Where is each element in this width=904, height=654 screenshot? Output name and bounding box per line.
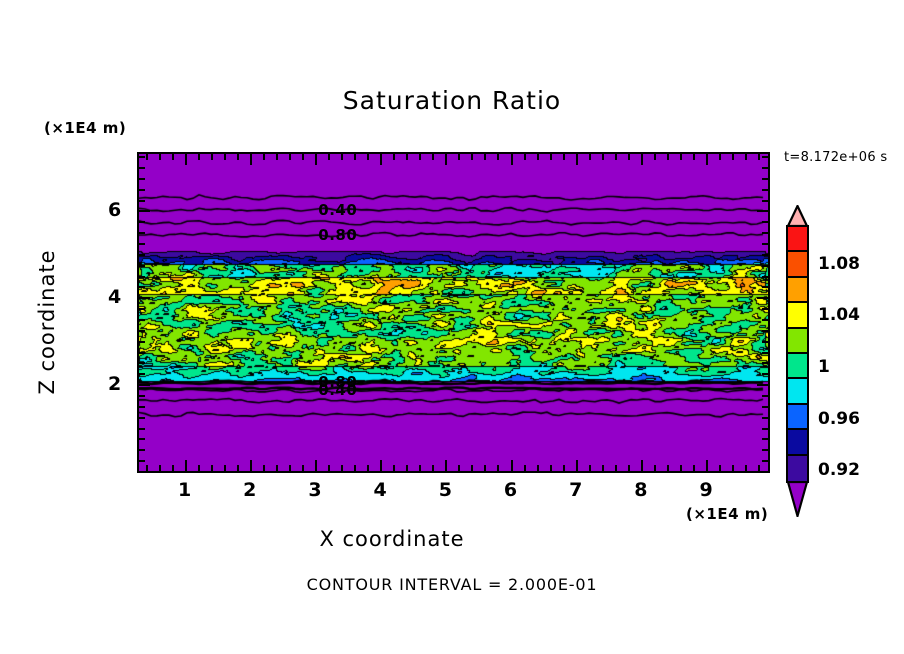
tick-mark (762, 265, 768, 267)
tick-mark (250, 460, 252, 471)
tick-mark (667, 465, 669, 471)
tick-mark (762, 417, 768, 419)
tick-mark (762, 395, 768, 397)
tick-mark (237, 154, 239, 160)
time-annotation: t=8.172e+06 s (784, 150, 887, 165)
tick-mark (732, 465, 734, 471)
colorbar-segment (788, 456, 807, 481)
tick-mark (185, 460, 187, 471)
colorbar-tick-label: 1.08 (818, 254, 860, 274)
tick-mark (139, 167, 145, 169)
y-tick-label: 2 (108, 373, 121, 395)
tick-mark (139, 232, 145, 234)
tick-mark (276, 154, 278, 160)
tick-mark (139, 460, 145, 462)
tick-mark (524, 465, 526, 471)
tick-mark (432, 154, 434, 160)
tick-mark (628, 154, 630, 160)
colorbar-segment (788, 430, 807, 455)
tick-mark (367, 465, 369, 471)
tick-mark (762, 428, 768, 430)
tick-mark (139, 406, 145, 408)
tick-mark (602, 154, 604, 160)
tick-mark (393, 154, 395, 160)
colorbar-segment (788, 303, 807, 328)
tick-mark (139, 341, 145, 343)
tick-mark (762, 200, 768, 202)
tick-mark (602, 465, 604, 471)
tick-mark (139, 254, 145, 256)
y-axis-title: Z coordinate (35, 212, 59, 432)
tick-mark (139, 210, 150, 212)
tick-mark (762, 406, 768, 408)
colorbar-segment (788, 278, 807, 303)
colorbar-tick-label: 1 (818, 357, 830, 377)
tick-mark (139, 156, 145, 158)
tick-mark (484, 465, 486, 471)
tick-mark (576, 460, 578, 471)
tick-mark (762, 352, 768, 354)
tick-mark (641, 460, 643, 471)
colorbar-under-arrow (786, 481, 809, 517)
tick-mark (762, 308, 768, 310)
x-axis-units: (×1E4 m) (686, 505, 768, 523)
colorbar-segment (788, 329, 807, 354)
x-tick-label: 6 (504, 479, 517, 501)
tick-mark (537, 465, 539, 471)
tick-mark (706, 154, 708, 165)
tick-mark (139, 428, 145, 430)
tick-mark (341, 154, 343, 160)
tick-mark (380, 460, 382, 471)
colorbar-segment (788, 227, 807, 252)
tick-mark (654, 154, 656, 160)
tick-mark (762, 460, 768, 462)
tick-mark (354, 154, 356, 160)
colorbar-segment (788, 405, 807, 430)
tick-mark (139, 395, 145, 397)
tick-mark (458, 154, 460, 160)
x-tick-label: 1 (178, 479, 191, 501)
tick-mark (762, 373, 768, 375)
tick-mark (263, 154, 265, 160)
colorbar-over-arrow (786, 205, 809, 227)
tick-mark (302, 465, 304, 471)
tick-mark (406, 465, 408, 471)
tick-mark (172, 465, 174, 471)
tick-mark (511, 154, 513, 165)
y-tick-label: 4 (108, 286, 121, 308)
tick-mark (139, 286, 145, 288)
tick-mark (328, 154, 330, 160)
tick-mark (563, 154, 565, 160)
tick-mark (758, 154, 760, 160)
tick-mark (757, 297, 768, 299)
tick-mark (757, 384, 768, 386)
colorbar-segment (788, 379, 807, 404)
colorbar-tick-label: 0.96 (818, 409, 860, 429)
tick-mark (380, 154, 382, 165)
tick-mark (471, 465, 473, 471)
y-axis-units: (×1E4 m) (44, 119, 126, 137)
tick-mark (706, 460, 708, 471)
x-tick-label: 5 (439, 479, 452, 501)
tick-mark (198, 465, 200, 471)
tick-mark (762, 362, 768, 364)
tick-mark (757, 210, 768, 212)
tick-mark (719, 465, 721, 471)
tick-mark (719, 154, 721, 160)
tick-mark (146, 465, 148, 471)
tick-mark (524, 154, 526, 160)
tick-mark (289, 154, 291, 160)
colorbar-segment (788, 252, 807, 277)
tick-mark (628, 465, 630, 471)
tick-mark (762, 167, 768, 169)
tick-mark (745, 154, 747, 160)
tick-mark (139, 221, 145, 223)
tick-mark (762, 286, 768, 288)
tick-mark (563, 465, 565, 471)
tick-mark (762, 156, 768, 158)
colorbar (786, 225, 809, 483)
tick-mark (406, 154, 408, 160)
tick-mark (315, 460, 317, 471)
tick-mark (762, 330, 768, 332)
tick-mark (139, 265, 145, 267)
contour-plot-area (137, 152, 770, 473)
tick-mark (139, 417, 145, 419)
tick-mark (419, 465, 421, 471)
tick-mark (693, 465, 695, 471)
tick-mark (537, 154, 539, 160)
tick-mark (550, 154, 552, 160)
tick-mark (667, 154, 669, 160)
tick-mark (289, 465, 291, 471)
tick-mark (762, 276, 768, 278)
tick-mark (615, 465, 617, 471)
tick-mark (263, 465, 265, 471)
tick-mark (693, 154, 695, 160)
tick-mark (615, 154, 617, 160)
tick-mark (139, 178, 145, 180)
x-tick-label: 3 (308, 479, 321, 501)
tick-mark (172, 154, 174, 160)
tick-mark (159, 465, 161, 471)
tick-mark (146, 154, 148, 160)
tick-mark (276, 465, 278, 471)
tick-mark (762, 319, 768, 321)
tick-mark (367, 154, 369, 160)
tick-mark (328, 465, 330, 471)
tick-mark (139, 384, 150, 386)
x-tick-label: 7 (569, 479, 582, 501)
colorbar-segment (788, 354, 807, 379)
tick-mark (224, 465, 226, 471)
tick-mark (762, 189, 768, 191)
contour-label: 0.80 (318, 226, 357, 244)
tick-mark (139, 319, 145, 321)
tick-mark (589, 154, 591, 160)
x-tick-label: 4 (374, 479, 387, 501)
tick-mark (732, 154, 734, 160)
tick-mark (680, 154, 682, 160)
tick-mark (139, 243, 145, 245)
x-tick-label: 8 (634, 479, 647, 501)
tick-mark (185, 154, 187, 165)
colorbar-tick-label: 0.92 (818, 460, 860, 480)
x-tick-label: 2 (243, 479, 256, 501)
tick-mark (139, 438, 145, 440)
tick-mark (224, 154, 226, 160)
tick-mark (250, 154, 252, 165)
tick-mark (139, 200, 145, 202)
contour-label: 0.40 (318, 201, 357, 219)
tick-mark (302, 154, 304, 160)
saturation-ratio-field (139, 154, 768, 471)
tick-mark (445, 460, 447, 471)
tick-mark (762, 438, 768, 440)
tick-mark (432, 465, 434, 471)
tick-mark (139, 362, 145, 364)
tick-mark (762, 232, 768, 234)
chart-title: Saturation Ratio (0, 86, 904, 115)
tick-mark (139, 297, 150, 299)
tick-mark (139, 330, 145, 332)
contour-label: 0.40 (318, 381, 357, 399)
tick-mark (550, 465, 552, 471)
tick-mark (139, 189, 145, 191)
tick-mark (511, 460, 513, 471)
tick-mark (762, 221, 768, 223)
tick-mark (237, 465, 239, 471)
tick-mark (745, 465, 747, 471)
tick-mark (139, 449, 145, 451)
tick-mark (139, 373, 145, 375)
tick-mark (484, 154, 486, 160)
tick-mark (139, 352, 145, 354)
tick-mark (589, 465, 591, 471)
tick-mark (762, 243, 768, 245)
tick-mark (654, 465, 656, 471)
x-tick-label: 9 (699, 479, 712, 501)
tick-mark (419, 154, 421, 160)
tick-mark (139, 276, 145, 278)
tick-mark (139, 308, 145, 310)
contour-interval-note: CONTOUR INTERVAL = 2.000E-01 (0, 575, 904, 594)
tick-mark (211, 465, 213, 471)
tick-mark (680, 465, 682, 471)
tick-mark (576, 154, 578, 165)
tick-mark (211, 154, 213, 160)
x-axis-title: X coordinate (0, 527, 784, 551)
tick-mark (641, 154, 643, 165)
tick-mark (497, 154, 499, 160)
tick-mark (198, 154, 200, 160)
colorbar-tick-label: 1.04 (818, 305, 860, 325)
tick-mark (762, 449, 768, 451)
y-tick-label: 6 (108, 199, 121, 221)
tick-mark (762, 341, 768, 343)
tick-mark (393, 465, 395, 471)
tick-mark (762, 178, 768, 180)
tick-mark (159, 154, 161, 160)
tick-mark (762, 254, 768, 256)
tick-mark (471, 154, 473, 160)
tick-mark (341, 465, 343, 471)
tick-mark (758, 465, 760, 471)
tick-mark (458, 465, 460, 471)
tick-mark (354, 465, 356, 471)
tick-mark (445, 154, 447, 165)
tick-mark (315, 154, 317, 165)
tick-mark (497, 465, 499, 471)
